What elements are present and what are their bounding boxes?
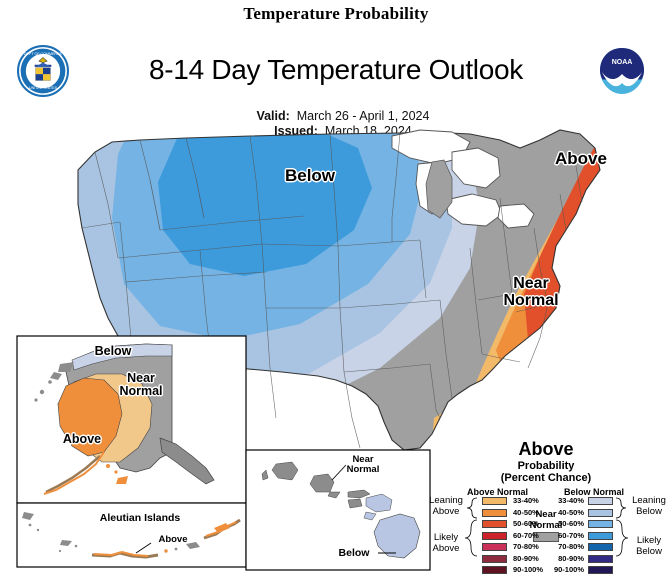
legend-swatch-below-80-90 — [588, 555, 613, 563]
legend-range-below-60-70: 60-70% — [552, 531, 584, 540]
legend-range-above-80-90: 80-90% — [513, 554, 539, 563]
legend-range-above-33-40: 33-40% — [513, 496, 539, 505]
legend-range-above-90-100: 90-100% — [513, 565, 543, 574]
legend-leaning-below-label: Leaning Below — [618, 496, 672, 518]
legend-range-below-90-100: 90-100% — [552, 565, 584, 574]
legend-range-above-40-50: 40-50% — [513, 508, 539, 517]
legend-range-above-50-60: 50-60% — [513, 519, 539, 528]
temperature-outlook-page: Temperature Probability 8-14 Day Tempera… — [0, 0, 672, 577]
legend-range-above-70-80: 70-80% — [513, 542, 539, 551]
legend-swatch-below-60-70 — [588, 532, 613, 540]
legend-range-below-50-60: 50-60% — [552, 519, 584, 528]
legend-swatch-above-50-60 — [482, 520, 507, 528]
legend-range-below-40-50: 40-50% — [552, 508, 584, 517]
legend-range-below-70-80: 70-80% — [552, 542, 584, 551]
legend-swatch-above-70-80 — [482, 543, 507, 551]
legend-swatch-above-40-50 — [482, 509, 507, 517]
legend-leaning-above-label: Leaning Above — [416, 496, 476, 518]
legend-swatch-above-80-90 — [482, 555, 507, 563]
legend-swatch-above-33-40 — [482, 497, 507, 505]
legend-swatch-below-50-60 — [588, 520, 613, 528]
legend-range-below-80-90: 80-90% — [552, 554, 584, 563]
legend-swatch-below-70-80 — [588, 543, 613, 551]
legend-title: Above — [420, 439, 672, 460]
legend-range-above-60-70: 60-70% — [513, 531, 539, 540]
legend: Above Probability (Percent Chance) Above… — [420, 436, 672, 577]
legend-swatch-above-90-100 — [482, 566, 507, 574]
legend-subtitle-percent-chance: (Percent Chance) — [420, 472, 672, 484]
legend-subtitle-probability: Probability — [420, 460, 672, 472]
legend-range-below-33-40: 33-40% — [552, 496, 584, 505]
legend-swatch-above-60-70 — [482, 532, 507, 540]
legend-likely-above-label: Likely Above — [416, 533, 476, 555]
legend-likely-below-label: Likely Below — [618, 536, 672, 558]
legend-swatch-below-40-50 — [588, 509, 613, 517]
legend-swatch-below-33-40 — [588, 497, 613, 505]
legend-swatch-below-90-100 — [588, 566, 613, 574]
